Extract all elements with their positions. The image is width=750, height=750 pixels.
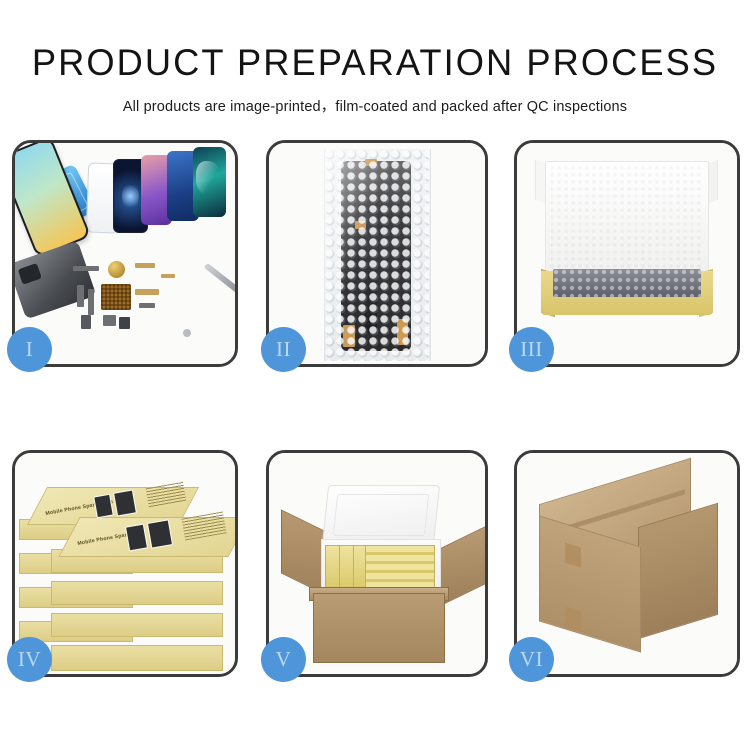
process-step-panel-5: V [266, 450, 488, 677]
process-step-panel-6: VI [514, 450, 740, 677]
photo-sealed-shipping-carton [517, 453, 737, 674]
small-part-4 [77, 285, 84, 307]
step-numeral-5: V [276, 649, 292, 670]
foam-box-lid-image [322, 485, 440, 545]
process-step-panel-4: Mobile Phone Spare Parts Mobile Phone Sp… [12, 450, 238, 677]
foam-sheet-image [549, 165, 703, 273]
carton-side-face [638, 503, 718, 639]
yellow-box-stack-flat [365, 545, 435, 591]
process-step-panel-2: II [266, 140, 488, 367]
stacked-box-f4 [51, 645, 223, 671]
step-badge-1: I [7, 327, 52, 372]
box-window-rear-2 [113, 489, 137, 516]
step-numeral-4: IV [18, 649, 41, 670]
step-badge-3: III [509, 327, 554, 372]
stacked-box-f3 [51, 613, 223, 637]
small-part-7 [139, 303, 155, 308]
small-part-8 [81, 315, 91, 329]
small-part-6 [135, 289, 159, 295]
step-badge-2: II [261, 327, 306, 372]
box-window-front-1 [125, 524, 148, 552]
product-preparation-infographic: PRODUCT PREPARATION PROCESS All products… [0, 0, 750, 750]
photo-bubble-wrapped-part [269, 143, 485, 364]
bubble-wrap-contents-image [553, 269, 701, 297]
phone-back-cover-image [15, 241, 96, 320]
process-step-grid: I II [0, 0, 750, 750]
box-stack-image: Mobile Phone Spare Parts Mobile Phone Sp… [15, 453, 235, 674]
step-numeral-6: VI [520, 649, 543, 670]
screw-part [183, 329, 191, 337]
box-window-front-2 [147, 519, 173, 548]
step-badge-5: V [261, 637, 306, 682]
logic-board-chip-image [101, 284, 131, 310]
step-badge-4: IV [7, 637, 52, 682]
small-part-1 [73, 266, 99, 271]
small-part-5 [88, 289, 94, 315]
photo-carton-with-foam-box [269, 453, 485, 674]
box-window-rear-1 [93, 494, 114, 519]
plastic-gloss-highlight [324, 149, 429, 361]
step-numeral-2: II [276, 339, 291, 360]
small-part-2 [135, 263, 155, 268]
photo-phones-and-spare-parts [15, 143, 235, 364]
carton-body-image [313, 593, 445, 663]
phone-teal-image [193, 147, 226, 217]
small-part-10 [119, 317, 130, 329]
step-numeral-1: I [26, 339, 34, 360]
screwdriver-image [204, 263, 235, 294]
yellow-box-v2 [339, 545, 354, 591]
process-step-panel-3: III [514, 140, 740, 367]
process-step-panel-1: I [12, 140, 238, 367]
stacked-box-f2 [51, 581, 223, 605]
step-numeral-3: III [520, 339, 542, 360]
small-part-3 [161, 274, 175, 278]
small-part-9 [103, 315, 116, 326]
photo-open-yellow-box-with-foam [517, 143, 737, 364]
yellow-box-v1 [325, 545, 340, 591]
photo-stacked-retail-boxes: Mobile Phone Spare Parts Mobile Phone Sp… [15, 453, 235, 674]
vibration-motor-icon [108, 261, 125, 278]
step-badge-6: VI [509, 637, 554, 682]
